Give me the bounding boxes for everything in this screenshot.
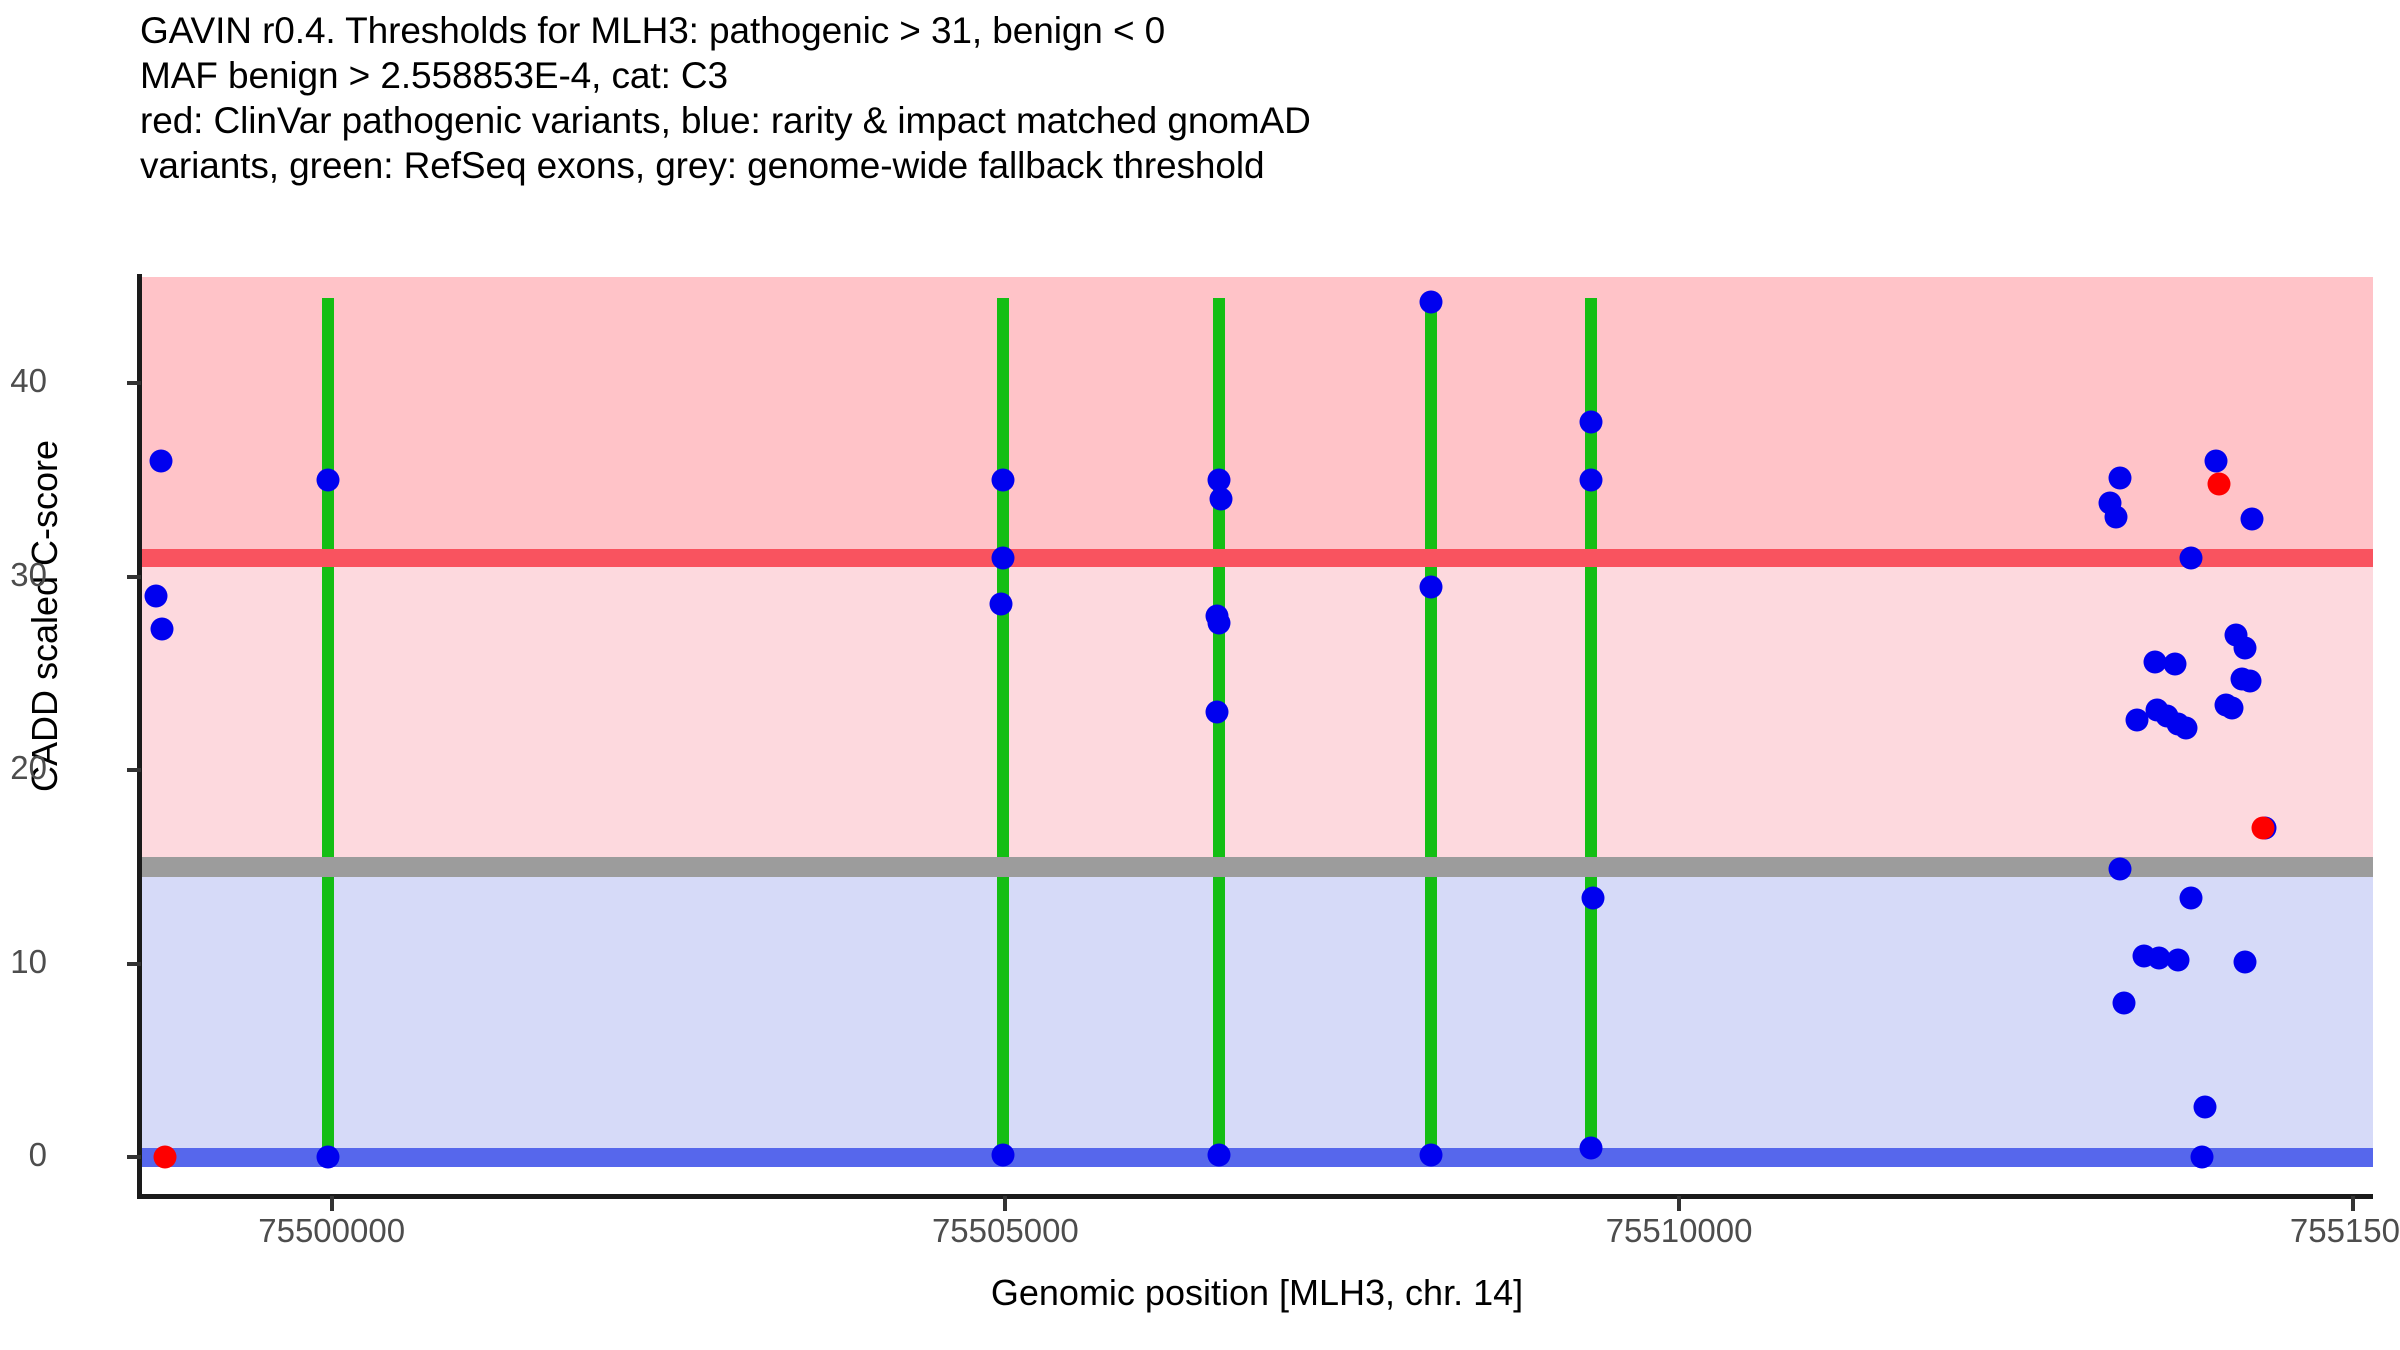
gnomad-variant-point[interactable] [1579,469,1602,492]
gnomad-variant-point[interactable] [992,1144,1015,1167]
band-benign [141,867,2373,1157]
band-pathogenic [141,277,2373,558]
y-axis-title: CADD scaled C-score [24,366,66,866]
x-tick-mark [1677,1196,1681,1211]
gnomad-variant-point[interactable] [1209,488,1232,511]
clinvar-variant-point[interactable] [2208,473,2231,496]
gnomad-variant-point[interactable] [145,585,168,608]
y-tick-mark [127,768,141,772]
x-tick-mark [2351,1196,2355,1211]
exon-line-2 [997,298,1009,1166]
gnomad-variant-point[interactable] [2180,546,2203,569]
gnomad-variant-point[interactable] [2112,991,2135,1014]
exon-line-1 [322,298,334,1166]
y-tick-mark [127,962,141,966]
exon-line-3 [1213,298,1225,1166]
gnomad-variant-point[interactable] [2180,887,2203,910]
gnomad-variant-point[interactable] [1579,411,1602,434]
gnomad-variant-point[interactable] [2108,467,2131,490]
fallback-threshold-line [141,857,2373,877]
x-tick-label: 75500000 [258,1212,405,1250]
gnomad-variant-point[interactable] [150,618,173,641]
x-tick-label: 75510000 [1606,1212,1753,1250]
exon-line-4 [1425,298,1437,1166]
gnomad-variant-point[interactable] [2215,693,2238,716]
gnomad-variant-point[interactable] [317,469,340,492]
gnomad-variant-point[interactable] [2190,1146,2213,1169]
y-tick-mark [127,575,141,579]
x-tick-label: 75505000 [932,1212,1079,1250]
y-tick-label: 20 [0,749,47,787]
gnomad-variant-point[interactable] [2166,948,2189,971]
gnomad-variant-point[interactable] [2233,950,2256,973]
gnomad-variant-point[interactable] [1205,701,1228,724]
y-axis-line [137,274,142,1199]
plot-figure: CADD scaled C-score Genomic position [ML… [0,0,2400,1350]
clinvar-variant-point[interactable] [2251,817,2274,840]
gnomad-variant-point[interactable] [2205,449,2228,472]
gnomad-variant-point[interactable] [149,449,172,472]
y-tick-label: 30 [0,556,47,594]
y-tick-label: 40 [0,362,47,400]
benign-threshold-line [141,1148,2373,1167]
y-tick-mark [127,381,141,385]
gnomad-variant-point[interactable] [2233,637,2256,660]
gnomad-variant-point[interactable] [1579,1136,1602,1159]
gnomad-variant-point[interactable] [992,469,1015,492]
x-tick-mark [330,1196,334,1211]
clinvar-variant-point[interactable] [153,1146,176,1169]
gnomad-variant-point[interactable] [990,592,1013,615]
x-axis-line [137,1194,2373,1199]
x-tick-mark [1003,1196,1007,1211]
gnomad-variant-point[interactable] [2240,507,2263,530]
gnomad-variant-point[interactable] [1420,575,1443,598]
gnomad-variant-point[interactable] [1420,291,1443,314]
pathogenic-threshold-line [141,549,2373,567]
band-vus [141,558,2373,868]
x-axis-title: Genomic position [MLH3, chr. 14] [141,1272,2373,1314]
gnomad-variant-point[interactable] [1207,1144,1230,1167]
gnomad-variant-point[interactable] [2174,716,2197,739]
gnomad-variant-point[interactable] [2193,1096,2216,1119]
gnomad-variant-point[interactable] [2163,652,2186,675]
x-tick-label: 755150 [2290,1212,2400,1250]
gnomad-variant-point[interactable] [2104,505,2127,528]
y-tick-label: 0 [0,1136,47,1174]
gnomad-variant-point[interactable] [1581,887,1604,910]
gnomad-variant-point[interactable] [2239,670,2262,693]
plot-panel [141,277,2373,1196]
gnomad-variant-point[interactable] [317,1146,340,1169]
gnomad-variant-point[interactable] [2108,858,2131,881]
y-tick-label: 10 [0,943,47,981]
gnomad-variant-point[interactable] [1420,1144,1443,1167]
gnomad-variant-point[interactable] [992,546,1015,569]
gnomad-variant-point[interactable] [1207,612,1230,635]
y-tick-mark [127,1155,141,1159]
